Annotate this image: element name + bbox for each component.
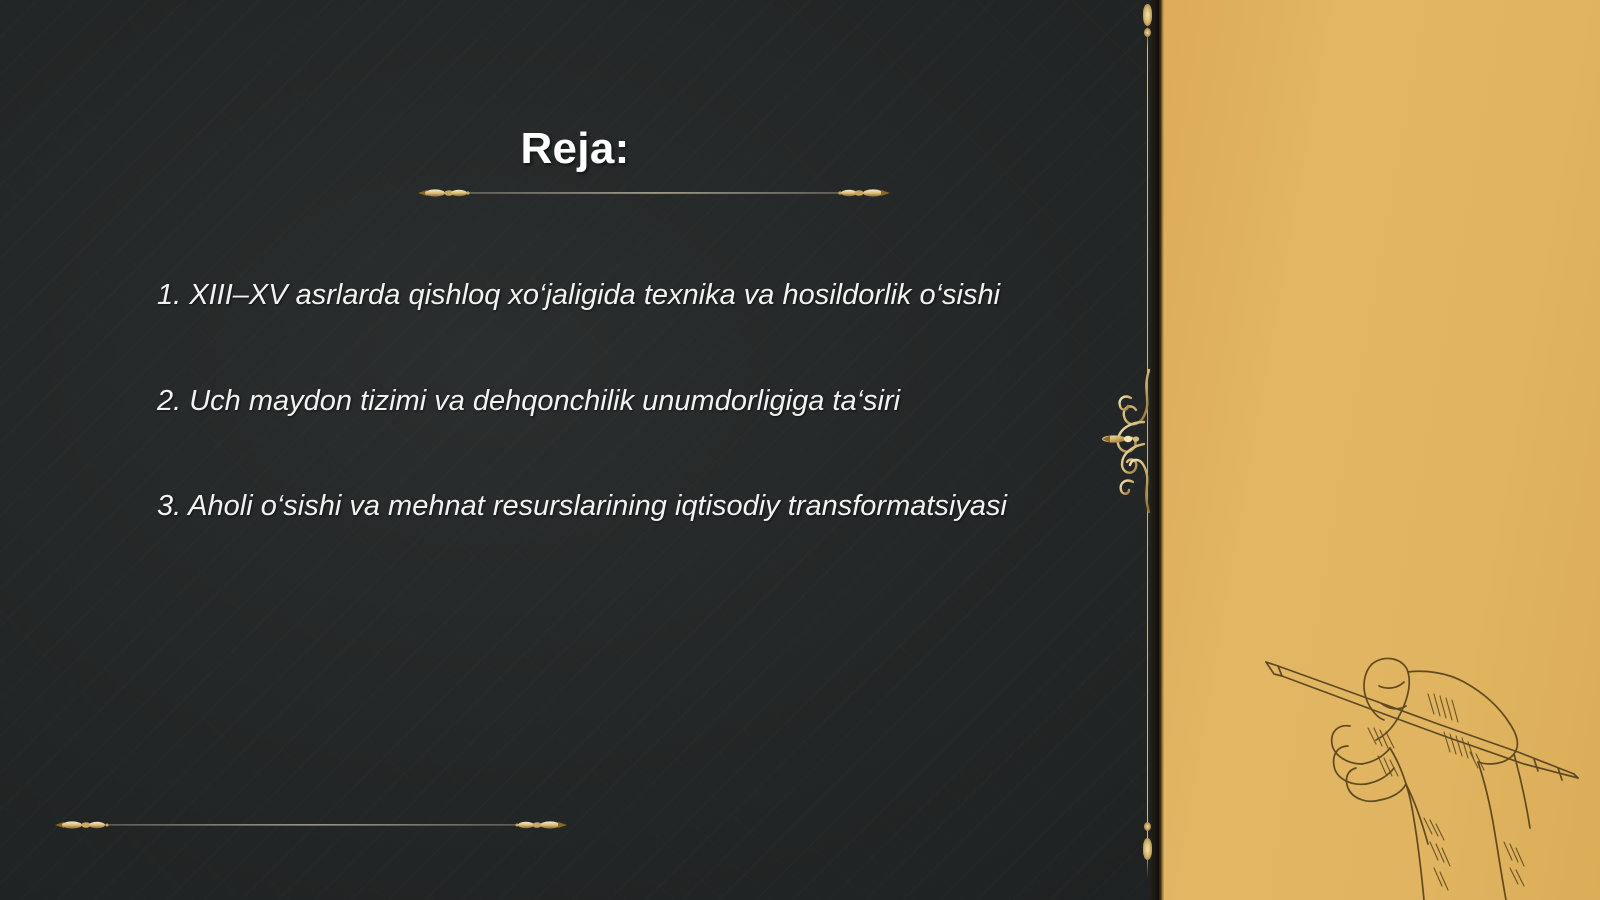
page-title: Reja: bbox=[520, 126, 629, 172]
title-ornamental-divider-icon bbox=[418, 186, 890, 200]
list-item: 1. XIII–XV asrlarda qishloq xo‘jaligida … bbox=[157, 276, 1117, 315]
list-item: 3. Aholi o‘sishi va mehnat resurslarinin… bbox=[157, 487, 1117, 526]
agenda-list: 1. XIII–XV asrlarda qishloq xo‘jaligida … bbox=[157, 276, 1117, 526]
panel-divider-strip bbox=[1150, 0, 1159, 900]
slide-gold-panel bbox=[1163, 0, 1600, 900]
list-item: 2. Uch maydon tizimi va dehqonchilik unu… bbox=[157, 382, 1117, 421]
divider-finial-bottom-icon bbox=[1143, 838, 1152, 860]
divider-bead-top-icon bbox=[1144, 28, 1151, 37]
divider-bead-bottom-icon bbox=[1144, 822, 1151, 831]
title-block: Reja: bbox=[0, 126, 1150, 172]
divider-finial-top-icon bbox=[1143, 4, 1152, 26]
bottom-ornamental-divider-icon bbox=[55, 818, 567, 832]
presentation-slide: Reja: 1. XIII–XV as bbox=[0, 0, 1600, 900]
